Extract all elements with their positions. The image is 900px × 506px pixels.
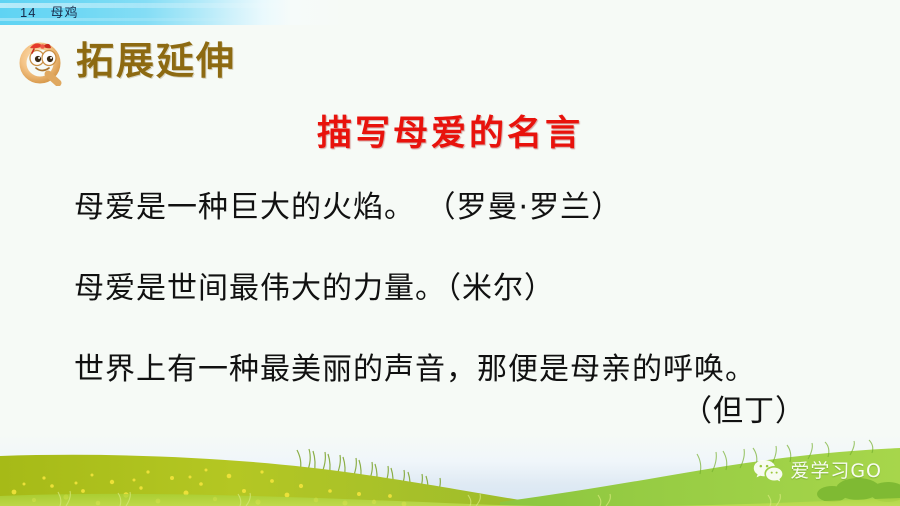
quote-line: 母爱是世间最伟大的力量。（米尔）	[74, 269, 864, 309]
section-title-row: 拓展延伸	[16, 34, 236, 88]
wechat-watermark: 爱学习GO	[753, 458, 882, 484]
slide-canvas: 14 母鸡	[0, 0, 900, 506]
lesson-header-label: 14 母鸡	[20, 2, 78, 23]
quote-line: 世界上有一种最美丽的声音，那便是母亲的呼唤。	[74, 350, 864, 390]
quote-line: 母爱是一种巨大的火焰。 （罗曼·罗兰）	[74, 188, 864, 228]
section-title-text: 拓展延伸	[76, 39, 236, 83]
quote-list: 母爱是一种巨大的火焰。 （罗曼·罗兰） 母爱是世间最伟大的力量。（米尔） 世界上…	[74, 188, 864, 432]
q-mascot-icon	[16, 36, 66, 86]
wechat-icon	[753, 458, 783, 484]
watermark-label: 爱学习GO	[790, 460, 882, 482]
quote-attribution: （但丁）	[74, 392, 864, 432]
content-heading: 描写母爱的名言	[0, 112, 900, 156]
lesson-header-bar	[0, 0, 560, 25]
